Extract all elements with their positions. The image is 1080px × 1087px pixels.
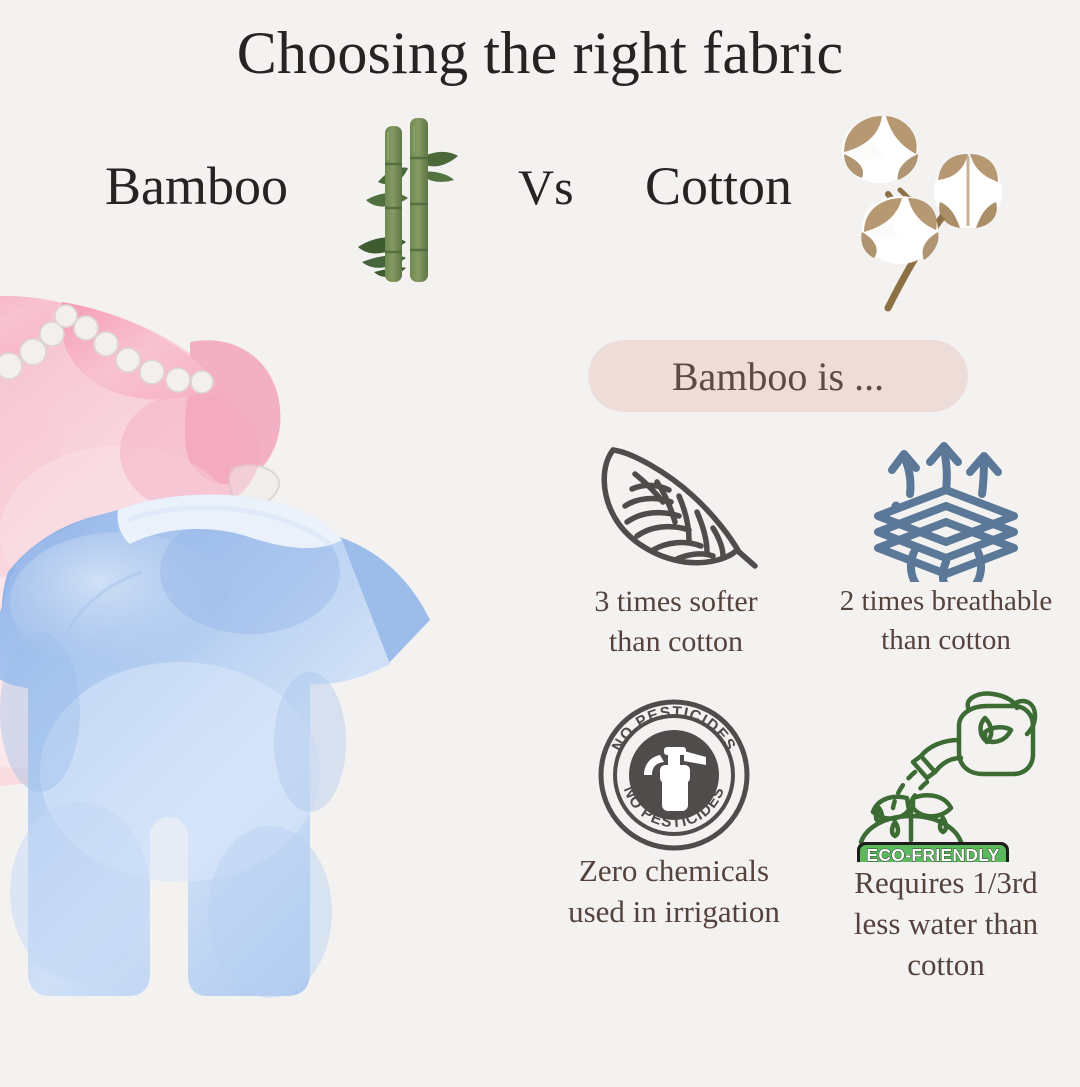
feature-water-use: ECO-FRIENDLY Requires 1/3rd less water t… xyxy=(812,690,1080,986)
garment-illustration xyxy=(0,272,510,1082)
eco-friendly-badge: ECO-FRIENDLY xyxy=(857,842,1009,862)
feature-softness: 3 times softer than cotton xyxy=(542,432,810,662)
feature-no-pesticides: NO PESTICIDES NO PESTICIDES xyxy=(540,700,808,932)
feather-icon xyxy=(542,432,810,582)
feature-breathability-text: 2 times breathable than cotton xyxy=(800,582,1080,659)
no-pesticides-stamp-icon: NO PESTICIDES NO PESTICIDES xyxy=(540,700,808,850)
feature-water-use-line-3: cotton xyxy=(812,944,1080,985)
cotton-branch-icon xyxy=(828,102,1028,327)
feature-softness-line-1: 3 times softer xyxy=(542,582,810,622)
breathable-layers-icon xyxy=(800,432,1080,582)
feature-breathability: 2 times breathable than cotton xyxy=(800,432,1080,659)
compare-right-label: Cotton xyxy=(645,155,792,217)
feature-no-pesticides-line-1: Zero chemicals xyxy=(540,850,808,891)
badge-label: Bamboo is ... xyxy=(672,353,884,400)
compare-vs-label: Vs xyxy=(518,158,574,216)
svg-text:ECO-FRIENDLY: ECO-FRIENDLY xyxy=(866,845,999,862)
page-title: Choosing the right fabric xyxy=(0,22,1080,85)
feature-no-pesticides-text: Zero chemicals used in irrigation xyxy=(540,850,808,932)
watering-can-sprout-icon: ECO-FRIENDLY xyxy=(812,690,1080,862)
feature-water-use-line-2: less water than xyxy=(812,903,1080,944)
bamboo-stalks-icon xyxy=(348,112,468,297)
status-badge: Bamboo is ... xyxy=(588,340,968,412)
feature-softness-text: 3 times softer than cotton xyxy=(542,582,810,662)
feature-no-pesticides-line-2: used in irrigation xyxy=(540,891,808,932)
blue-romper xyxy=(0,495,430,998)
feature-softness-line-2: than cotton xyxy=(542,622,810,662)
comparison-header: Bamboo xyxy=(0,140,1080,260)
feature-water-use-line-1: Requires 1/3rd xyxy=(812,862,1080,903)
feature-water-use-text: Requires 1/3rd less water than cotton xyxy=(812,862,1080,986)
feature-breathability-line-1: 2 times breathable xyxy=(800,582,1080,621)
feature-grid: 3 times softer than cotton xyxy=(520,432,1080,1072)
feature-breathability-line-2: than cotton xyxy=(800,621,1080,660)
infographic-canvas: Choosing the right fabric Bamboo xyxy=(0,0,1080,1080)
compare-left-label: Bamboo xyxy=(105,155,288,217)
